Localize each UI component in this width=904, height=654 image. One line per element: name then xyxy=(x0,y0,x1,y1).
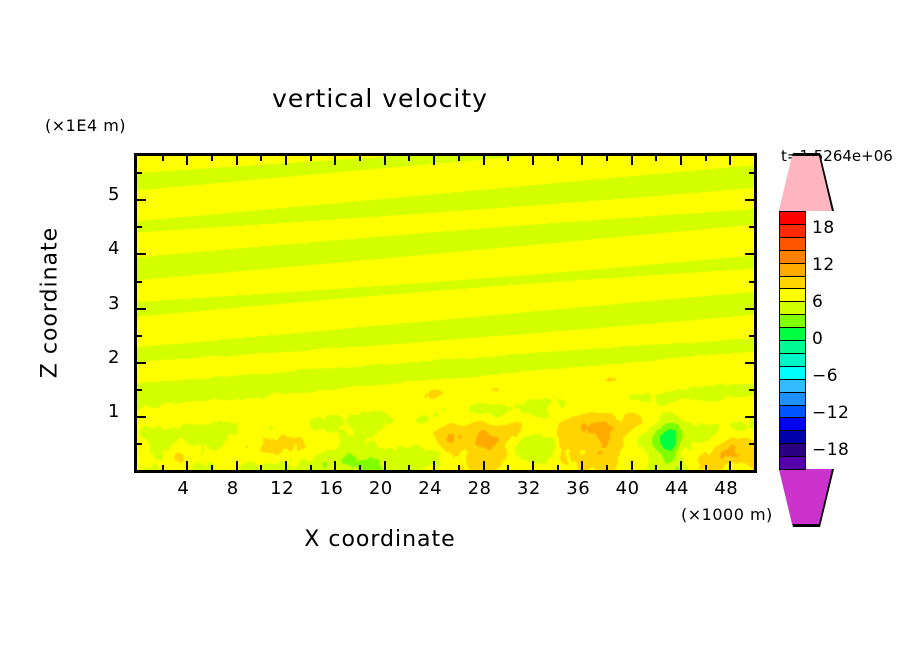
axis-tick xyxy=(532,461,534,470)
colorbar-tick-label: 0 xyxy=(812,329,823,349)
axis-tick xyxy=(211,156,213,161)
axis-tick xyxy=(507,465,509,470)
x-tick-label: 32 xyxy=(509,478,549,499)
y-axis-unit-label: (×1E4 m) xyxy=(45,116,126,135)
axis-tick xyxy=(384,156,386,165)
axis-tick xyxy=(137,308,146,310)
axis-tick xyxy=(749,443,754,445)
axis-tick xyxy=(705,465,707,470)
axis-tick xyxy=(729,461,731,470)
axis-tick xyxy=(532,156,534,165)
y-tick-label: 3 xyxy=(86,293,120,314)
x-tick-label: 4 xyxy=(163,478,203,499)
y-tick-label: 4 xyxy=(86,238,120,259)
y-axis-title: Z coordinate xyxy=(38,223,63,383)
axis-tick xyxy=(211,465,213,470)
colorbar-over-arrow xyxy=(779,156,832,211)
axis-tick xyxy=(137,226,142,228)
contour-field-canvas xyxy=(137,156,754,470)
axis-tick xyxy=(285,461,287,470)
axis-tick xyxy=(260,465,262,470)
axis-tick xyxy=(705,156,707,161)
axis-tick xyxy=(655,465,657,470)
colorbar-tick-label: −18 xyxy=(812,440,849,460)
axis-tick xyxy=(137,172,142,174)
axis-tick xyxy=(433,461,435,470)
colorbar-under-arrow xyxy=(779,469,832,524)
axis-tick xyxy=(745,199,754,201)
colorbar-tick-label: 6 xyxy=(812,292,823,312)
axis-tick xyxy=(334,461,336,470)
axis-tick xyxy=(137,362,146,364)
axis-tick xyxy=(186,156,188,165)
axis-tick xyxy=(359,465,361,470)
axis-tick xyxy=(137,253,146,255)
axis-tick xyxy=(236,461,238,470)
colorbar-tick-label: 18 xyxy=(812,218,835,238)
axis-tick xyxy=(433,156,435,165)
axis-tick xyxy=(137,443,142,445)
axis-tick xyxy=(745,308,754,310)
colorbar-band xyxy=(779,456,806,470)
x-tick-label: 8 xyxy=(213,478,253,499)
axis-tick xyxy=(137,281,142,283)
axis-tick xyxy=(408,465,410,470)
y-tick-label: 1 xyxy=(86,401,120,422)
axis-tick xyxy=(137,416,146,418)
x-tick-label: 44 xyxy=(657,478,697,499)
axis-tick xyxy=(749,281,754,283)
axis-tick xyxy=(458,156,460,161)
x-tick-label: 12 xyxy=(262,478,302,499)
axis-tick xyxy=(137,389,142,391)
axis-tick xyxy=(162,465,164,470)
axis-tick xyxy=(162,156,164,161)
axis-tick xyxy=(458,465,460,470)
axis-tick xyxy=(260,156,262,161)
x-tick-label: 40 xyxy=(608,478,648,499)
axis-tick xyxy=(137,335,142,337)
axis-tick xyxy=(754,465,756,470)
axis-tick xyxy=(507,156,509,161)
axis-tick xyxy=(749,172,754,174)
axis-tick xyxy=(359,156,361,161)
axis-tick xyxy=(606,465,608,470)
x-tick-label: 28 xyxy=(460,478,500,499)
axis-tick xyxy=(557,156,559,161)
colorbar xyxy=(779,211,806,469)
axis-tick xyxy=(749,335,754,337)
colorbar-tick-label: 12 xyxy=(812,255,835,275)
axis-tick xyxy=(680,461,682,470)
x-tick-label: 24 xyxy=(410,478,450,499)
axis-tick xyxy=(729,156,731,165)
axis-tick xyxy=(606,156,608,161)
axis-tick xyxy=(631,461,633,470)
axis-tick xyxy=(631,156,633,165)
colorbar-tick-label: −6 xyxy=(812,366,838,386)
x-axis-unit-label: (×1000 m) xyxy=(681,505,773,524)
axis-tick xyxy=(186,461,188,470)
axis-tick xyxy=(137,199,146,201)
axis-tick xyxy=(745,362,754,364)
contour-plot-area xyxy=(134,153,757,473)
axis-tick xyxy=(754,156,756,161)
x-axis-title: X coordinate xyxy=(0,527,760,552)
axis-tick xyxy=(310,156,312,161)
axis-tick xyxy=(581,156,583,165)
axis-tick xyxy=(557,465,559,470)
axis-tick xyxy=(745,253,754,255)
axis-tick xyxy=(334,156,336,165)
axis-tick xyxy=(285,156,287,165)
axis-tick xyxy=(408,156,410,161)
axis-tick xyxy=(680,156,682,165)
plot-title: vertical velocity xyxy=(0,84,760,113)
axis-tick xyxy=(749,226,754,228)
axis-tick xyxy=(483,156,485,165)
x-tick-label: 16 xyxy=(311,478,351,499)
colorbar-tick-label: −12 xyxy=(812,403,849,423)
axis-tick xyxy=(581,461,583,470)
x-tick-label: 36 xyxy=(558,478,598,499)
axis-tick xyxy=(236,156,238,165)
axis-tick xyxy=(749,389,754,391)
y-tick-label: 2 xyxy=(86,347,120,368)
axis-tick xyxy=(745,416,754,418)
y-tick-label: 5 xyxy=(86,184,120,205)
axis-tick xyxy=(483,461,485,470)
x-tick-label: 48 xyxy=(706,478,746,499)
x-tick-label: 20 xyxy=(361,478,401,499)
axis-tick xyxy=(384,461,386,470)
axis-tick xyxy=(310,465,312,470)
axis-tick xyxy=(655,156,657,161)
